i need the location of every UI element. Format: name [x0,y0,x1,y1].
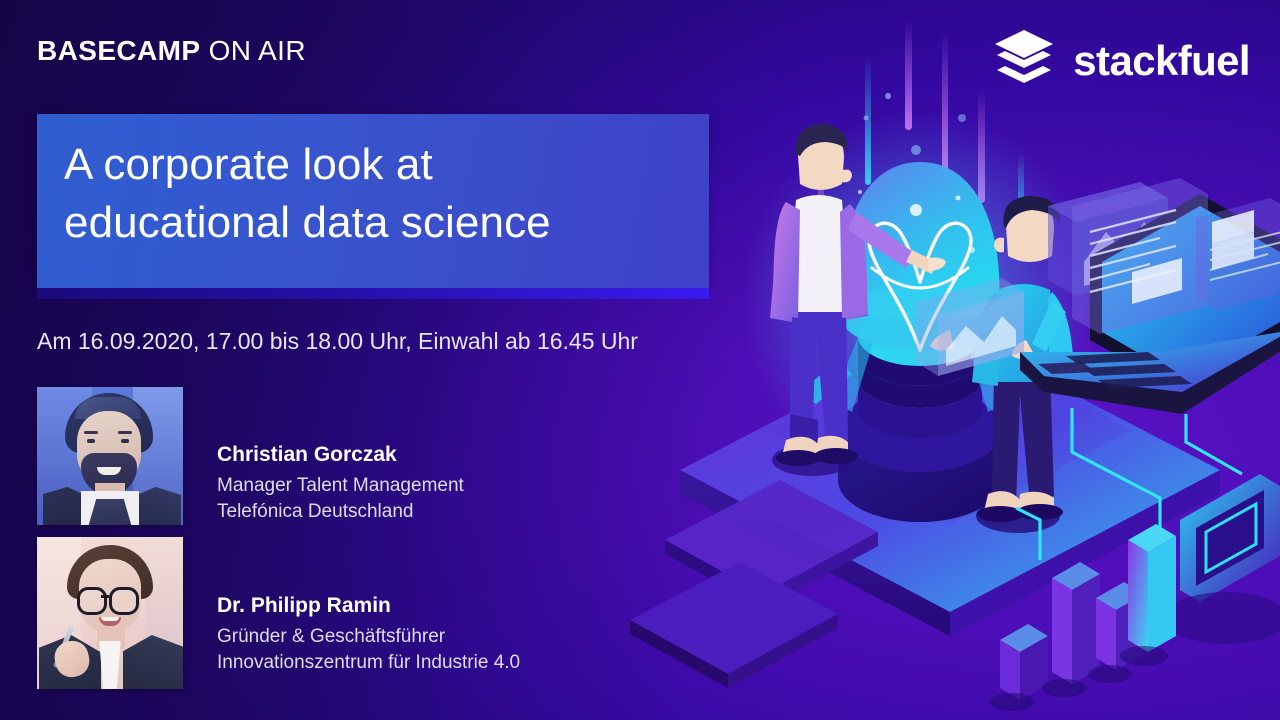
speaker-2-photo [37,537,183,689]
stacked-layers-icon [993,28,1055,93]
speaker-2-company: Innovationszentrum für Industrie 4.0 [217,650,520,676]
speaker-2-text: Dr. Philipp Ramin Gründer & Geschäftsfüh… [217,594,520,676]
isometric-data-science-illustration [620,0,1280,720]
portrait-philipp-ramin [37,537,183,689]
stackfuel-logo: stackfuel [993,28,1250,93]
portrait-christian-gorczak [37,387,183,525]
webinar-poster: BASECAMP ON AIR A corporate look at educ… [0,0,1280,720]
speaker-1-text: Christian Gorczak Manager Talent Managem… [217,443,464,525]
kicker-light: ON AIR [209,35,306,66]
speaker-1-photo [37,387,183,525]
speaker-2-name: Dr. Philipp Ramin [217,594,520,618]
title-box: A corporate look at educational data sci… [37,114,709,288]
title-line-2: educational data science [64,194,697,252]
page-title: A corporate look at educational data sci… [64,136,697,252]
speaker-1-name: Christian Gorczak [217,443,464,467]
speaker-2-role: Gründer & Geschäftsführer [217,624,520,650]
title-accent-bar [37,288,709,299]
speaker-1-company: Telefónica Deutschland [217,499,464,525]
logo-wordmark: stackfuel [1073,37,1250,85]
event-datetime: Am 16.09.2020, 17.00 bis 18.00 Uhr, Einw… [37,328,638,355]
kicker-bold: BASECAMP [37,35,200,66]
speaker-1-role: Manager Talent Management [217,473,464,499]
kicker-basecamp-on-air: BASECAMP ON AIR [37,35,306,67]
title-line-1: A corporate look at [64,136,697,194]
